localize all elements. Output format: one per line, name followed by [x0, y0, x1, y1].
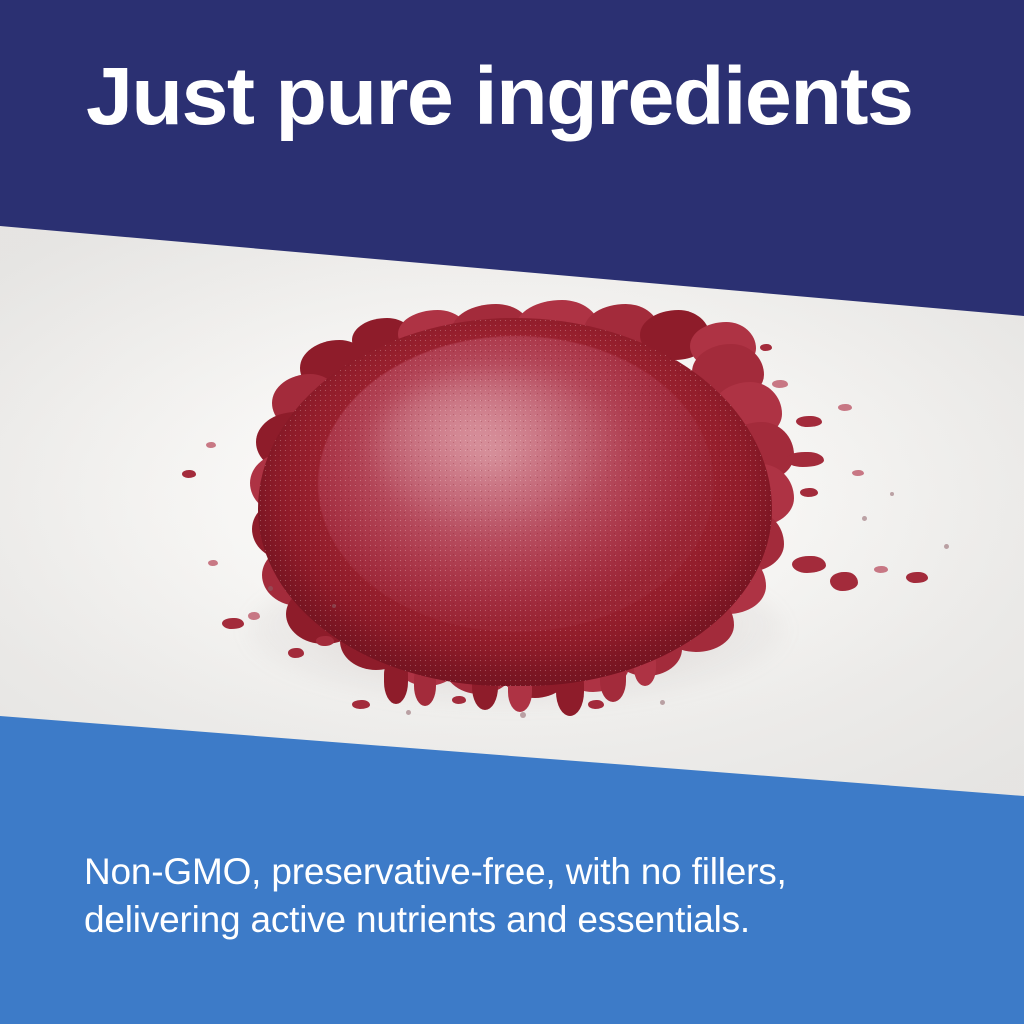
- powder-dust: [520, 712, 526, 718]
- powder-speck: [792, 556, 826, 573]
- powder-speck: [830, 572, 858, 591]
- page-title: Just pure ingredients: [86, 56, 992, 138]
- powder-speck: [838, 404, 852, 411]
- powder-speck: [206, 442, 216, 448]
- powder-mound-highlight-dome: [318, 336, 714, 632]
- powder-dust: [944, 544, 949, 549]
- footer-subtitle-line-1: Non-GMO, preservative-free, with no fill…: [84, 848, 914, 896]
- footer-subtitle-line-2: delivering active nutrients and essentia…: [84, 896, 914, 944]
- powder-dust: [332, 604, 336, 608]
- powder-speck: [352, 700, 370, 709]
- marketing-poster: Just pure ingredients Non-GMO, preservat…: [0, 0, 1024, 1024]
- powder-speck: [852, 470, 864, 476]
- powder-speck: [874, 566, 888, 573]
- powder-speck: [786, 452, 824, 467]
- powder-dust: [406, 710, 411, 715]
- powder-speck: [222, 618, 244, 629]
- powder-speck: [588, 700, 604, 709]
- powder-speck: [760, 344, 772, 351]
- powder-speck: [906, 572, 928, 583]
- powder-speck: [208, 560, 218, 566]
- powder-dust: [660, 700, 665, 705]
- powder-speck: [182, 470, 196, 478]
- powder-dust: [268, 586, 273, 591]
- powder-speck: [800, 488, 818, 497]
- powder-speck: [796, 416, 822, 427]
- powder-speck: [248, 612, 260, 620]
- powder-dust: [890, 492, 894, 496]
- powder-dust: [862, 516, 867, 521]
- footer-subtitle: Non-GMO, preservative-free, with no fill…: [84, 848, 914, 944]
- powder-speck: [772, 380, 788, 388]
- powder-speck: [316, 636, 334, 646]
- powder-speck: [452, 696, 466, 704]
- powder-speck: [288, 648, 304, 658]
